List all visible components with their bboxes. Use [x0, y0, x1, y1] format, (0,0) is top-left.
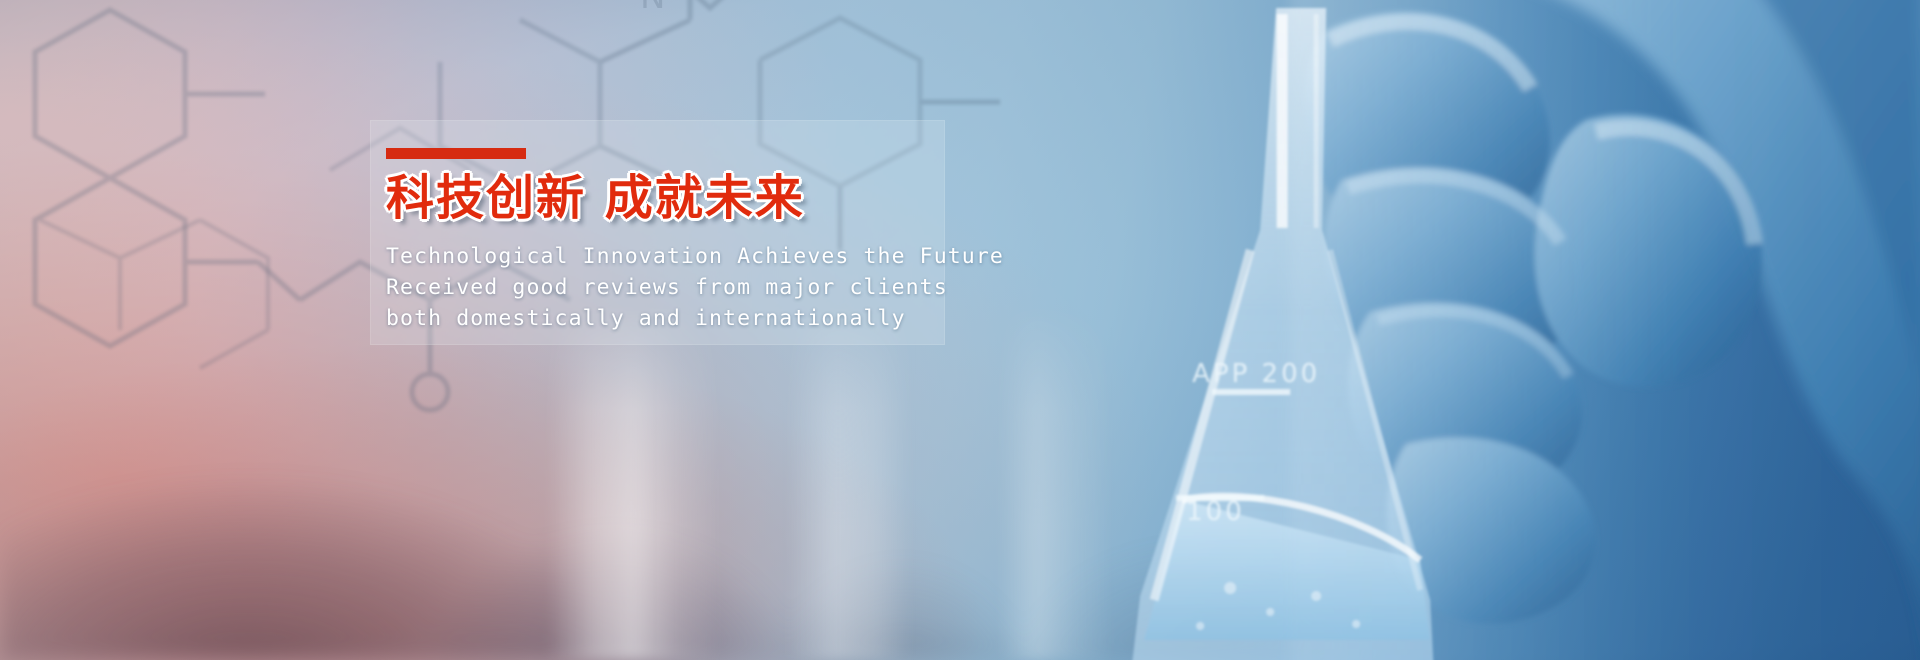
copy-block: 科技创新 成就未来 Technological Innovation Achie…	[386, 120, 986, 334]
subtitle-line-2: Received good reviews from major clients	[386, 272, 986, 303]
subtitle-block: Technological Innovation Achieves the Fu…	[386, 241, 986, 334]
hero-banner: N	[0, 0, 1920, 660]
red-accent-rule	[386, 148, 526, 159]
subtitle-line-1: Technological Innovation Achieves the Fu…	[386, 241, 986, 272]
subtitle-line-3: both domestically and internationally	[386, 303, 986, 334]
headline-chinese: 科技创新 成就未来	[386, 173, 986, 223]
